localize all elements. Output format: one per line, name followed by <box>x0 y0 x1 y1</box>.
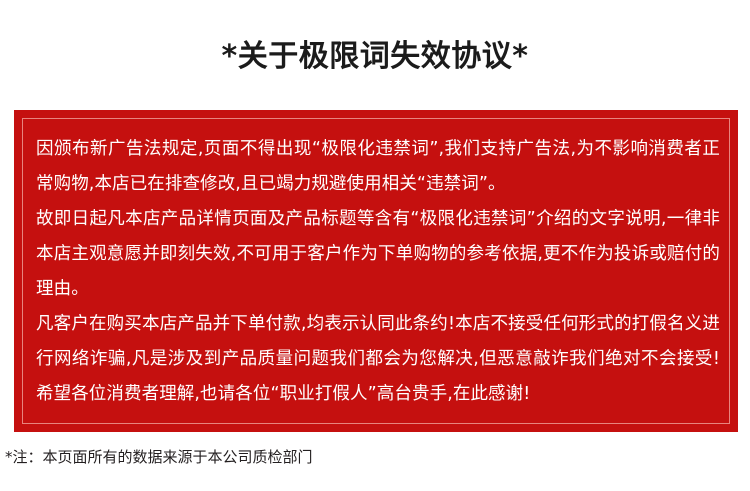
notice-paragraph-1: 因颁布新广告法规定,页面不得出现“极限化违禁词”,我们支持广告法,为不影响消费者… <box>36 132 720 202</box>
footer-note: *注：本页面所有的数据来源于本公司质检部门 <box>5 446 313 468</box>
notice-paragraph-3: 凡客户在购买本店产品并下单付款,均表示认同此条约!本店不接受任何形式的打假名义进… <box>36 307 720 412</box>
notice-body: 因颁布新广告法规定,页面不得出现“极限化违禁词”,我们支持广告法,为不影响消费者… <box>34 132 722 420</box>
notice-panel: 因颁布新广告法规定,页面不得出现“极限化违禁词”,我们支持广告法,为不影响消费者… <box>14 110 738 432</box>
disclaimer-page: *关于极限词失效协议* 因颁布新广告法规定,页面不得出现“极限化违禁词”,我们支… <box>0 0 750 491</box>
notice-paragraph-2: 故即日起凡本店产品详情页面及产品标题等含有“极限化违禁词”介绍的文字说明,一律非… <box>36 202 720 307</box>
page-title: *关于极限词失效协议* <box>0 38 750 76</box>
